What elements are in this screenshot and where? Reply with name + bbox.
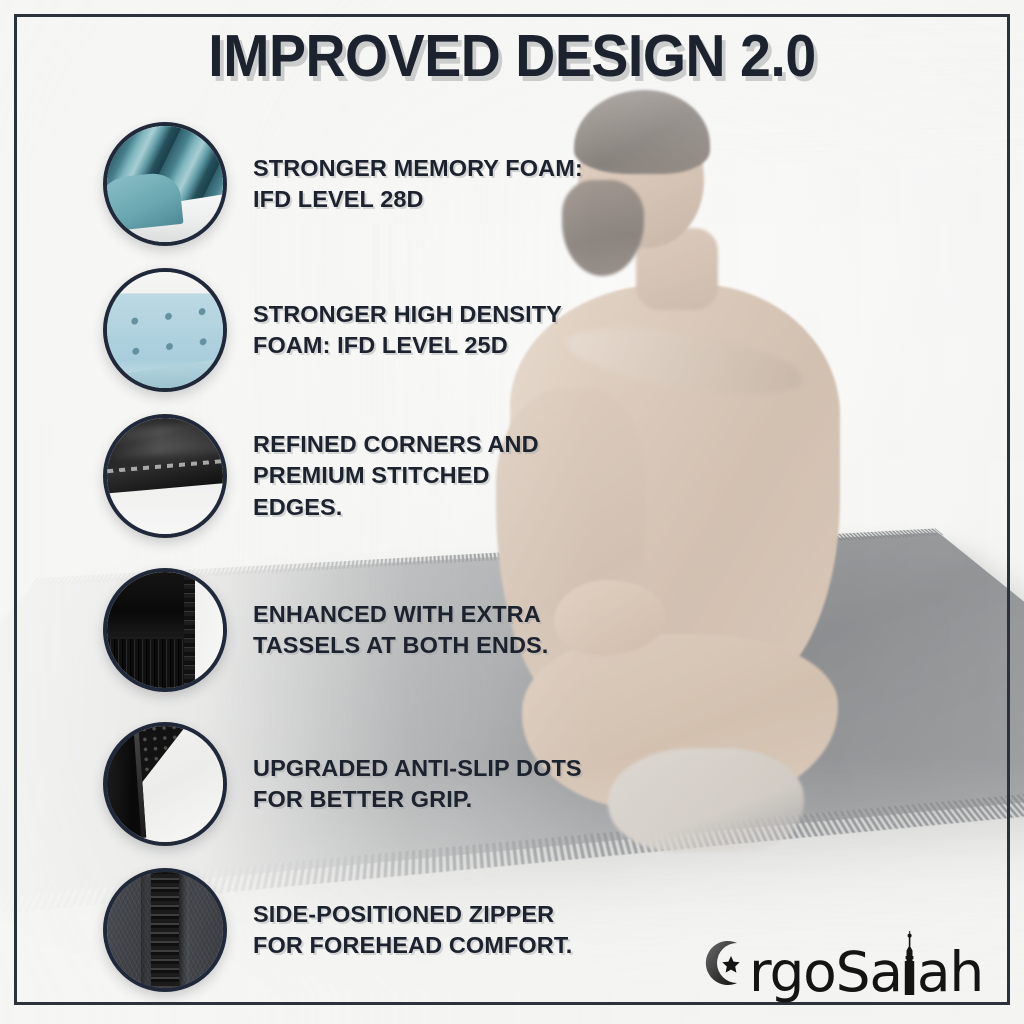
feature-label: SIDE-POSITIONED ZIPPER FOR FOREHEAD COMF… <box>253 899 583 962</box>
brand-name-part1: rgoSa <box>749 945 902 1000</box>
feature-label: REFINED CORNERS AND PREMIUM STITCHED EDG… <box>253 429 583 523</box>
poster-border-logo-gap <box>686 1017 1010 1024</box>
brand-name-part2: ah <box>917 945 983 1000</box>
zipper-closeup-icon <box>103 868 227 992</box>
feature-label: STRONGER HIGH DENSITY FOAM: IFD LEVEL 25… <box>253 299 593 362</box>
ribbed-teal-memory-foam-icon <box>103 122 227 246</box>
feature-row-high-density-foam: STRONGER HIGH DENSITY FOAM: IFD LEVEL 25… <box>103 268 593 392</box>
feature-label: UPGRADED ANTI-SLIP DOTS FOR BETTER GRIP. <box>253 753 593 816</box>
black-tassel-fringe-icon <box>103 568 227 692</box>
infographic-poster: IMPROVED DESIGN 2.0 STRONGER MEMORY FOAM… <box>0 0 1024 1024</box>
black-stitched-corner-icon <box>103 414 227 538</box>
perforated-light-blue-foam-icon <box>103 268 227 392</box>
anti-slip-dotted-backing-icon <box>103 722 227 846</box>
feature-label: ENHANCED WITH EXTRA TASSELS AT BOTH ENDS… <box>253 599 593 662</box>
feature-row-refined-corners: REFINED CORNERS AND PREMIUM STITCHED EDG… <box>103 414 583 538</box>
brand-name: rgoSa ah <box>749 927 983 1000</box>
crescent-moon-and-star-icon <box>700 937 748 989</box>
feature-row-memory-foam: STRONGER MEMORY FOAM: IFD LEVEL 28D <box>103 122 593 246</box>
page-title: IMPROVED DESIGN 2.0 <box>31 22 994 90</box>
brand-logo: rgoSa ah <box>700 930 983 996</box>
feature-label: STRONGER MEMORY FOAM: IFD LEVEL 28D <box>253 153 593 216</box>
feature-row-side-zipper: SIDE-POSITIONED ZIPPER FOR FOREHEAD COMF… <box>103 868 583 992</box>
feature-row-extra-tassels: ENHANCED WITH EXTRA TASSELS AT BOTH ENDS… <box>103 568 593 692</box>
minaret-icon <box>901 931 918 995</box>
feature-row-anti-slip-dots: UPGRADED ANTI-SLIP DOTS FOR BETTER GRIP. <box>103 722 593 846</box>
